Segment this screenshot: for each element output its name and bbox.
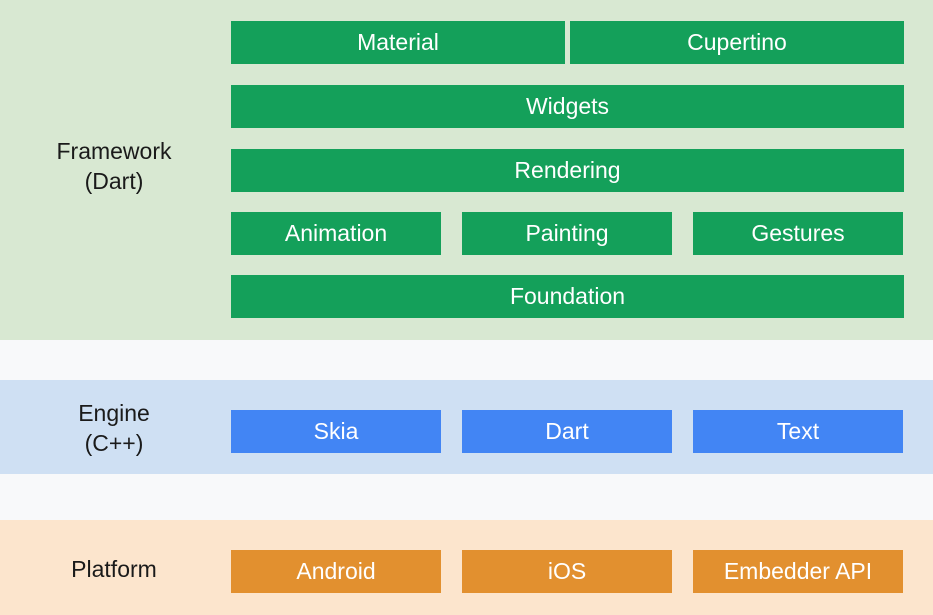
block-widgets[interactable]: Widgets (231, 85, 904, 128)
block-skia[interactable]: Skia (231, 410, 441, 453)
framework-layer-label: Framework (Dart) (0, 136, 228, 196)
framework-row-foundation: Foundation (231, 275, 904, 318)
framework-row-animation-painting-gestures: Animation Painting Gestures (231, 212, 904, 255)
block-animation[interactable]: Animation (231, 212, 441, 255)
framework-row-material-cupertino: Material Cupertino (231, 21, 904, 64)
engine-row-skia-dart-text: Skia Dart Text (231, 410, 904, 453)
block-text[interactable]: Text (693, 410, 903, 453)
block-android[interactable]: Android (231, 550, 441, 593)
block-gestures[interactable]: Gestures (693, 212, 903, 255)
block-dart[interactable]: Dart (462, 410, 672, 453)
row-gutter (441, 550, 462, 593)
block-foundation[interactable]: Foundation (231, 275, 904, 318)
framework-row-widgets: Widgets (231, 85, 904, 128)
row-gutter (672, 550, 693, 593)
row-gutter (672, 212, 693, 255)
block-ios[interactable]: iOS (462, 550, 672, 593)
block-cupertino[interactable]: Cupertino (570, 21, 904, 64)
row-gutter (441, 212, 462, 255)
row-gutter (672, 410, 693, 453)
flutter-architecture-diagram: Framework (Dart) Material Cupertino Widg… (0, 0, 933, 615)
block-material[interactable]: Material (231, 21, 565, 64)
block-rendering[interactable]: Rendering (231, 149, 904, 192)
engine-layer-label: Engine (C++) (0, 398, 228, 458)
block-painting[interactable]: Painting (462, 212, 672, 255)
block-embedder-api[interactable]: Embedder API (693, 550, 903, 593)
framework-row-rendering: Rendering (231, 149, 904, 192)
platform-row-android-ios-embedder: Android iOS Embedder API (231, 550, 904, 593)
platform-layer-label: Platform (0, 554, 228, 584)
row-gutter (441, 410, 462, 453)
